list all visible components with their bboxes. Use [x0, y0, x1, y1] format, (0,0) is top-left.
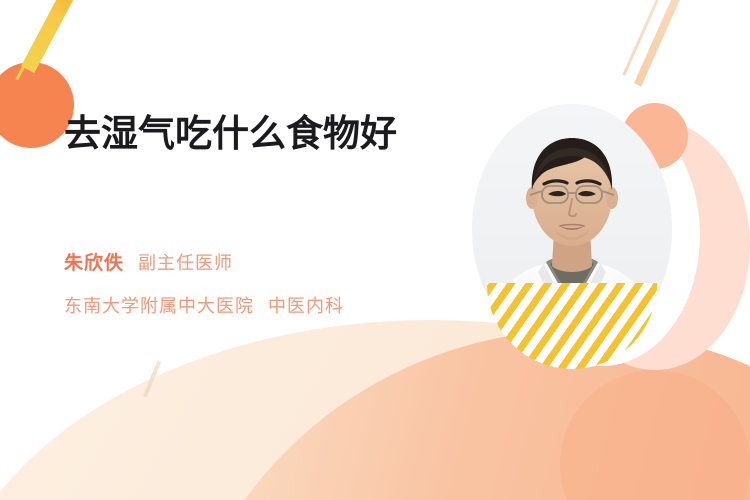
diagonal-stripe-top-left-band [21, 0, 86, 73]
department-name: 中医内科 [268, 292, 344, 318]
diagonal-stripe-top-right-thin [622, 0, 670, 76]
orange-circle-decoration [0, 62, 74, 148]
page-title: 去湿气吃什么食物好 [64, 112, 424, 156]
diagonal-stripe-top-left-thin [15, 0, 69, 80]
diagonal-stripe-top-right-band [634, 0, 690, 86]
diagonal-stripe-bottom-left [143, 361, 161, 398]
affiliation: 东南大学附属中大医院 中医内科 [64, 292, 344, 318]
salmon-wave-blob [560, 370, 750, 500]
yellow-striped-semicircle [487, 283, 657, 369]
byline: 朱欣佚 副主任医师 [64, 248, 233, 275]
doctor-rank: 副主任医师 [138, 249, 233, 275]
hospital-name: 东南大学附属中大医院 [64, 292, 254, 318]
doctor-info-card: 去湿气吃什么食物好 朱欣佚 副主任医师 东南大学附属中大医院 中医内科 [0, 0, 750, 500]
salmon-wave [170, 330, 750, 500]
doctor-name: 朱欣佚 [64, 248, 124, 275]
